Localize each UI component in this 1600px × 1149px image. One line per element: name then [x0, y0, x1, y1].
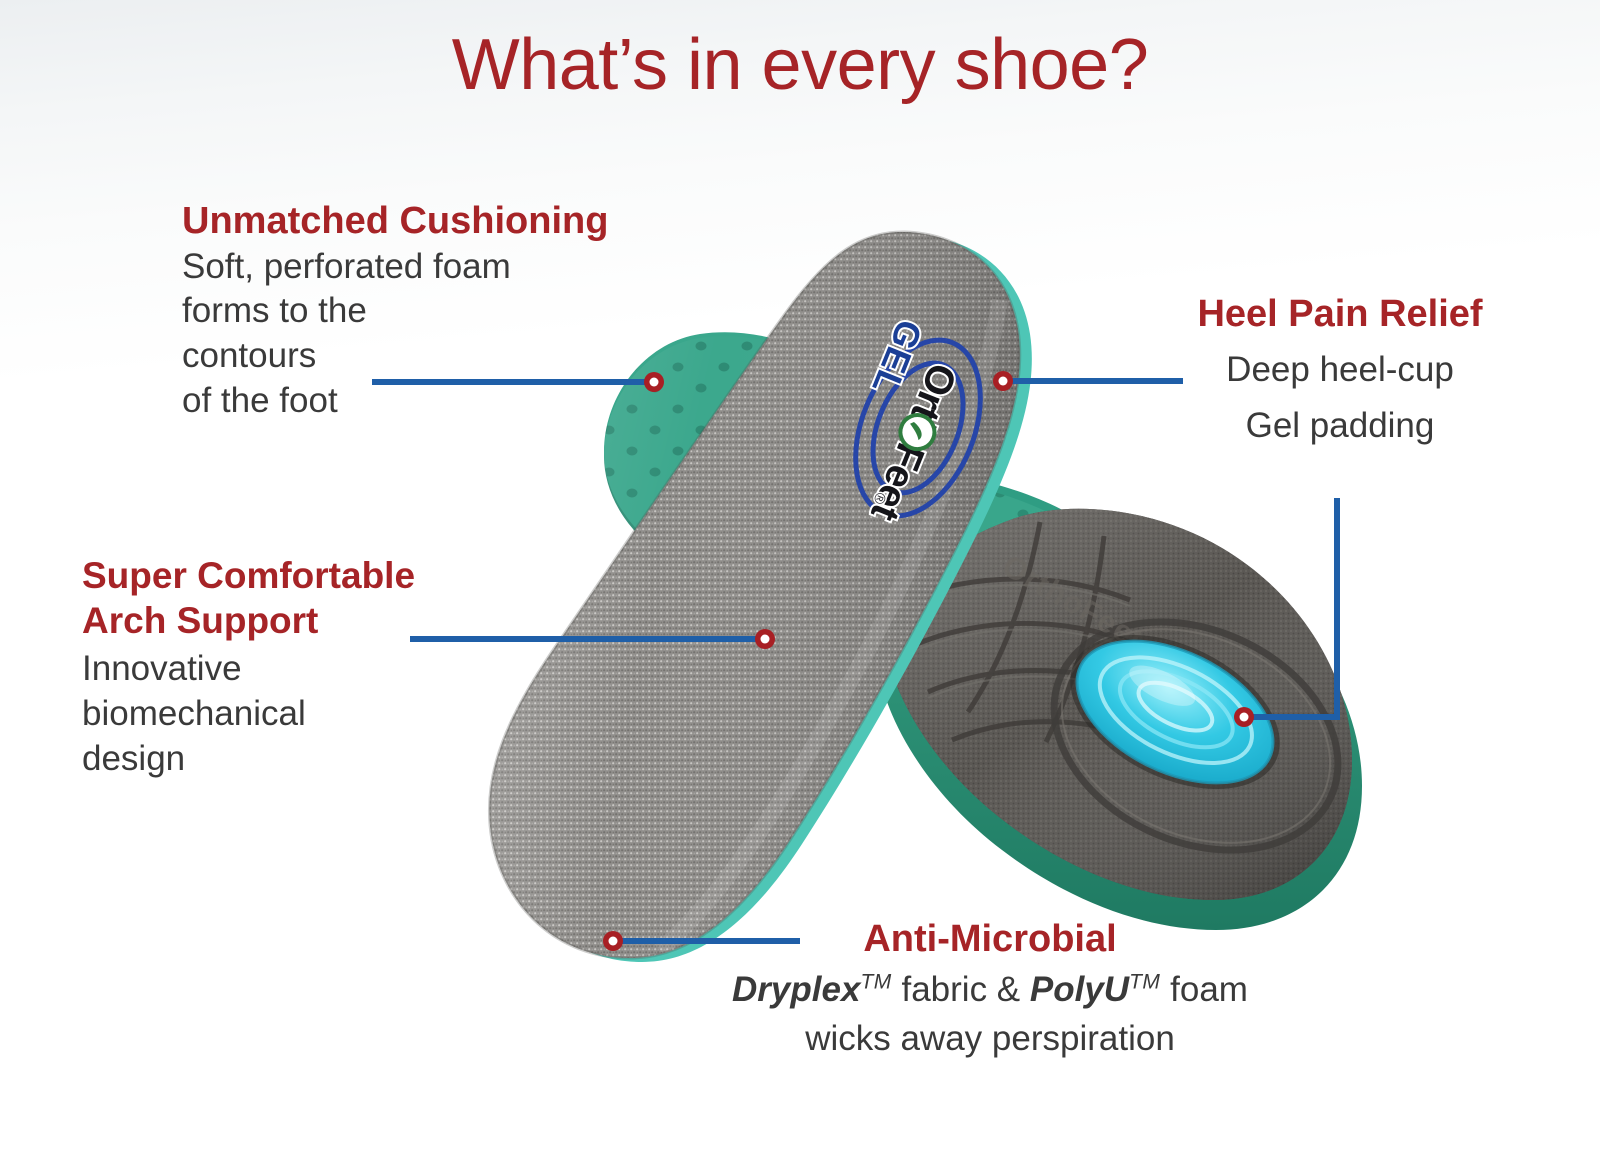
callout-arch-body: Innovative biomechanical design: [82, 647, 552, 781]
trademark-symbol-dryplex: TM: [860, 970, 891, 993]
callout-cushioning-body: Soft, perforated foam forms to the conto…: [182, 245, 742, 424]
trademark-symbol-polyu: TM: [1129, 970, 1160, 993]
callout-heel-line-1: Deep heel-cup: [1120, 342, 1560, 399]
callout-arch-line-1: Innovative: [82, 647, 552, 692]
callout-arch-line-3: design: [82, 737, 552, 782]
callout-arch-line-2: biomechanical: [82, 692, 552, 737]
callout-arch-heading-line-2: Arch Support: [82, 598, 552, 643]
callout-heel-pain: Heel Pain Relief Deep heel-cup Gel paddi…: [1120, 293, 1560, 455]
brand-dryplex: Dryplex: [732, 970, 860, 1009]
callout-cushioning-line-2: forms to the: [182, 289, 742, 334]
callout-anti-line-2: wicks away perspiration: [660, 1014, 1320, 1064]
callout-arch-heading-line-1: Super Comfortable: [82, 553, 552, 598]
callout-heel-line-2: Gel padding: [1120, 398, 1560, 455]
page-title: What’s in every shoe?: [0, 28, 1600, 104]
callout-cushioning-line-3: contours: [182, 334, 742, 379]
callout-cushioning-heading: Unmatched Cushioning: [182, 200, 742, 243]
callout-arch-support: Super Comfortable Arch Support Innovativ…: [82, 553, 552, 782]
anti-tail-text: foam: [1160, 970, 1248, 1009]
callout-heel-body: Deep heel-cup Gel padding: [1120, 342, 1560, 455]
anti-mid-text: fabric &: [892, 970, 1030, 1009]
callout-cushioning: Unmatched Cushioning Soft, perforated fo…: [182, 200, 742, 424]
callout-heel-heading: Heel Pain Relief: [1120, 293, 1560, 336]
callout-anti-heading: Anti-Microbial: [660, 918, 1320, 961]
infographic-canvas: OrthoFeet: [0, 0, 1600, 1149]
callout-anti-body: DryplexTM fabric & PolyUTM foam wicks aw…: [660, 965, 1320, 1064]
callout-anti-microbial: Anti-Microbial DryplexTM fabric & PolyUT…: [660, 918, 1320, 1064]
callout-cushioning-line-1: Soft, perforated foam: [182, 245, 742, 290]
brand-polyu: PolyU: [1030, 970, 1129, 1009]
callout-cushioning-line-4: of the foot: [182, 379, 742, 424]
callout-anti-line-1: DryplexTM fabric & PolyUTM foam: [660, 965, 1320, 1015]
